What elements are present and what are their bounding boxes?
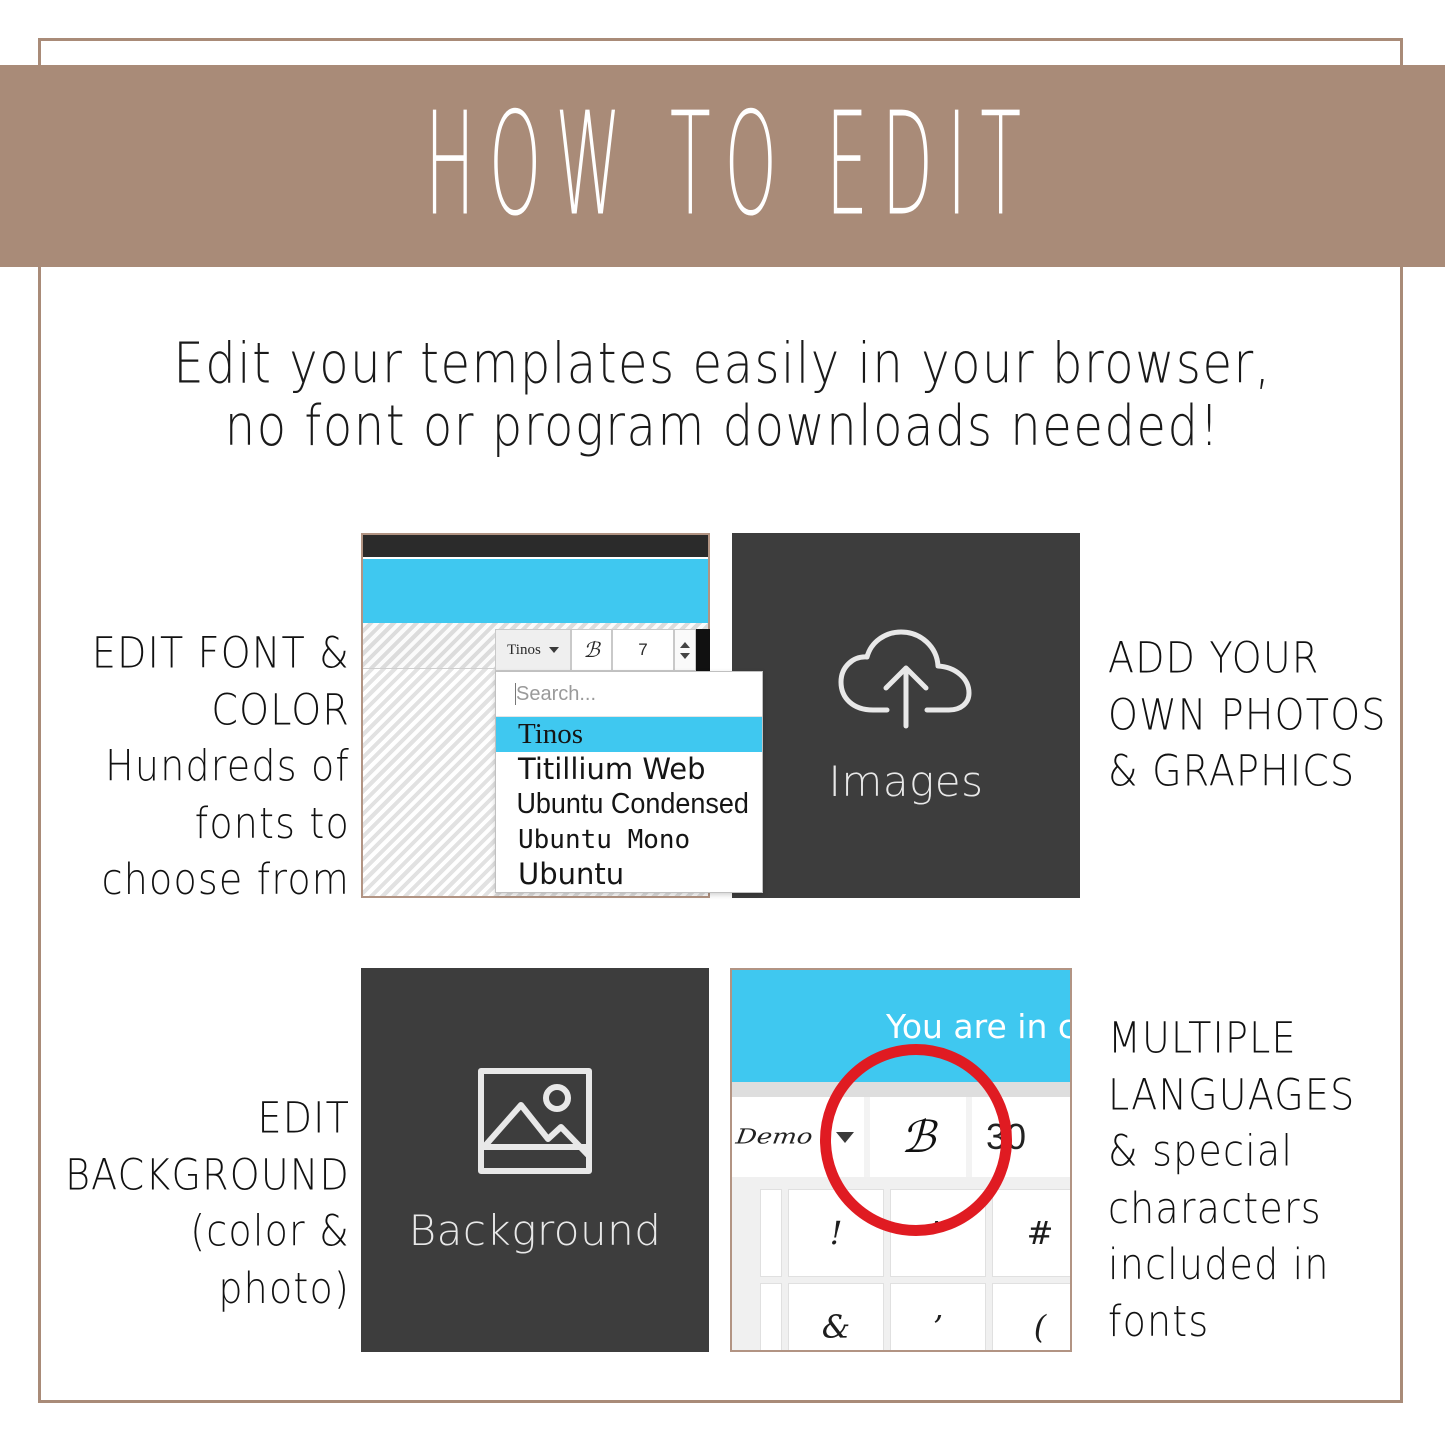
subtitle-line-1: Edit your templates easily in your brows…	[87, 332, 1359, 395]
font-option-ubuntu-mono[interactable]: Ubuntu Mono	[496, 822, 762, 857]
font-option-titillium-web[interactable]: Titillium Web	[496, 752, 762, 787]
glyph-cell[interactable]: (	[992, 1283, 1072, 1352]
caption-line: MULTIPLE	[1108, 1010, 1445, 1067]
font-option-tinos[interactable]: Tinos	[496, 717, 762, 752]
header-banner: HOW TO EDIT	[0, 65, 1445, 267]
screenshot-images-tile[interactable]: Images	[732, 533, 1080, 898]
caption-line: included in	[1108, 1236, 1445, 1293]
caption-line: fonts	[1108, 1293, 1445, 1350]
editor-cyan-banner	[363, 559, 708, 623]
caption-line: LANGUAGES	[1108, 1067, 1445, 1124]
font-family-value: Tinos	[507, 642, 541, 659]
caption-line: BACKGROUND	[20, 1147, 350, 1204]
font-search-input[interactable]: Search...	[496, 672, 762, 717]
stepper-up-icon[interactable]	[680, 642, 690, 648]
screenshot-special-characters: You are in c Demo ℬ 30 ! ” # & ’ (	[730, 968, 1072, 1352]
glyph-cell[interactable]	[760, 1189, 782, 1277]
caption-line: choose from	[20, 851, 350, 908]
subtitle: Edit your templates easily in your brows…	[87, 332, 1359, 457]
glyph-cell[interactable]	[760, 1283, 782, 1352]
caption-line: (color &	[20, 1203, 350, 1260]
stepper-down-icon[interactable]	[680, 653, 690, 659]
character-row: & ’ (	[732, 1283, 1070, 1352]
page-title: HOW TO EDIT	[411, 95, 1035, 238]
caption-add-photos: ADD YOUR OWN PHOTOS & GRAPHICS	[1108, 630, 1445, 800]
font-option-ubuntu[interactable]: Ubuntu	[496, 857, 762, 892]
glyph-cell[interactable]: &	[788, 1283, 884, 1352]
editor-title-bar	[363, 535, 708, 557]
picture-icon	[475, 1065, 595, 1182]
screenshot-font-picker: Tinos ℬ 7 Search... Tinos Titillium Web …	[361, 533, 710, 898]
caption-line: Hundreds of	[20, 738, 350, 795]
caption-line: fonts to	[20, 795, 350, 852]
caption-line: EDIT	[20, 1090, 350, 1147]
red-highlight-circle	[820, 1044, 1012, 1236]
caption-line: OWN PHOTOS	[1108, 687, 1445, 744]
background-tile-label: Background	[409, 1206, 662, 1255]
glyph-cell[interactable]: #	[992, 1189, 1072, 1277]
screenshot-background-tile[interactable]: Background	[361, 968, 709, 1352]
font-size-input[interactable]: 7	[612, 629, 674, 671]
script-font-preview-icon[interactable]: ℬ	[571, 629, 612, 671]
font-toolbar: Tinos ℬ 7	[495, 629, 710, 671]
caption-edit-font-color: EDIT FONT & COLOR Hundreds of fonts to c…	[20, 625, 350, 908]
caption-edit-background: EDIT BACKGROUND (color & photo)	[20, 1090, 350, 1316]
font-family-value: Demo	[734, 1125, 814, 1149]
caption-line: characters	[1108, 1180, 1445, 1237]
caption-line: & special	[1108, 1123, 1445, 1180]
caption-line: & GRAPHICS	[1108, 743, 1445, 800]
caption-line: EDIT FONT &	[20, 625, 350, 682]
images-tile-label: Images	[829, 757, 984, 806]
font-family-dropdown[interactable]: Search... Tinos Titillium Web Ubuntu Con…	[495, 671, 763, 893]
chevron-down-icon	[549, 647, 559, 653]
text-color-swatch[interactable]	[696, 629, 710, 671]
cloud-upload-icon	[831, 626, 981, 741]
caption-multiple-languages: MULTIPLE LANGUAGES & special characters …	[1108, 1010, 1445, 1350]
caption-line: ADD YOUR	[1108, 630, 1445, 687]
font-family-select[interactable]: Tinos	[495, 629, 571, 671]
subtitle-line-2: no font or program downloads needed!	[87, 395, 1359, 458]
banner-text: You are in c	[886, 1007, 1072, 1046]
font-size-stepper[interactable]	[674, 629, 696, 671]
font-option-ubuntu-condensed[interactable]: Ubuntu Condensed	[496, 787, 743, 822]
glyph-cell[interactable]: ’	[890, 1283, 986, 1352]
caption-line: photo)	[20, 1260, 350, 1317]
caption-line: COLOR	[20, 682, 350, 739]
